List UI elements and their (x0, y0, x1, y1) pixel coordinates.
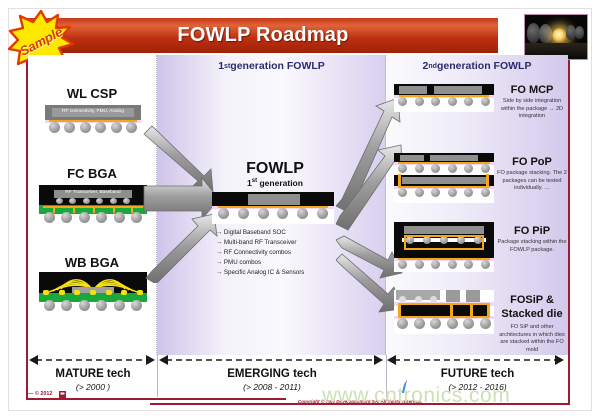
yole-logo (58, 390, 68, 400)
fopip-description: Package stacking within the FOWLP packag… (496, 239, 568, 254)
light-bulbs-photo (524, 14, 588, 60)
fomcp-package-diagram (394, 84, 494, 112)
gen1-header-text: generation FOWLP (230, 60, 325, 72)
fowlp-subtitle: 1st generation (210, 178, 340, 188)
timeline-label-mature: MATURE tech (30, 368, 156, 380)
list-item: → Specific Analog IC & Sensors (216, 268, 344, 278)
timeline-arrows (28, 352, 568, 368)
fopop-label: FO PoP (496, 156, 568, 168)
slide-root: FOWLP Roadmap Sample 1st generation FOWL… (0, 0, 600, 419)
fowlp-title: FOWLP (210, 160, 340, 178)
copyright-year: — © 2012 (28, 391, 52, 397)
fomcp-label: FO MCP (496, 84, 568, 96)
right-accent-rule (568, 18, 570, 403)
timeline-label-future: FUTURE tech (387, 368, 568, 380)
gen2-header-text: generation FOWLP (437, 60, 532, 72)
wlcsp-die-label: RF connectivity, PMU, Analog (45, 108, 141, 113)
site-watermark: www.cntronics.com (322, 384, 510, 408)
fopop-package-diagram (394, 153, 494, 203)
fowlp-bullet-list: → Digital Baseband SOC → Multi-band RF T… (216, 228, 344, 278)
fosip-label-line2: Stacked die (496, 308, 568, 320)
fopip-label: FO PiP (496, 225, 568, 237)
fosip-package-diagram (394, 290, 494, 334)
gen1-column-header: 1st generation FOWLP (157, 58, 386, 74)
list-item: → RF Connectivity combos (216, 248, 344, 258)
timeline-label-emerging: EMERGING tech (158, 368, 386, 380)
fopip-package-diagram (394, 222, 494, 272)
fowlp-package-diagram (212, 192, 334, 224)
fosip-description: FO SiP and other architectures in which … (496, 324, 568, 354)
list-item: → Multi-band RF Transceiver (216, 238, 344, 248)
fosip-label-line1: FOSiP & (496, 294, 568, 306)
fopop-description: FO package stacking. The 2 packages can … (496, 170, 568, 193)
list-item: → PMU combos (216, 258, 344, 268)
watermark-check-icon (400, 380, 409, 394)
fomcp-description: Side by side integration within the pack… (496, 98, 568, 121)
gen2-header-sup: nd (428, 63, 437, 70)
page-title: FOWLP Roadmap (28, 18, 498, 53)
fowlp-subtitle-text: generation (257, 178, 303, 188)
gen2-column-header: 2nd generation FOWLP (386, 58, 568, 74)
list-item: → Digital Baseband SOC (216, 228, 344, 238)
wlcsp-label: WL CSP (30, 86, 154, 101)
